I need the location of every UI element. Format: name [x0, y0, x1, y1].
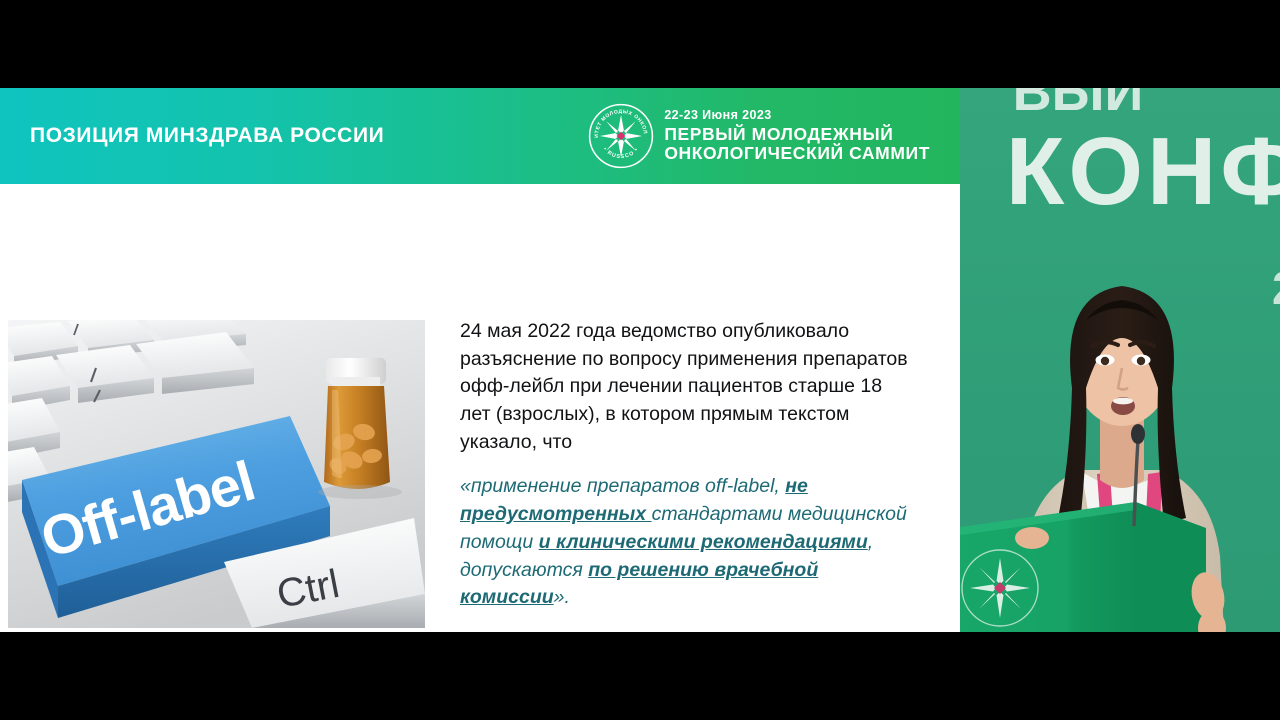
- slide-header-band: ПОЗИЦИЯ МИНЗДРАВА РОССИИ КОМИТЕТ МОЛОДЫХ…: [0, 88, 960, 184]
- svg-text:ВЫЙ: ВЫЙ: [1013, 88, 1144, 122]
- quote-emphasis-3: и клиническими рекомендациями: [539, 531, 868, 553]
- letterbox-bottom: [0, 632, 1280, 720]
- svg-text:2: 2: [1272, 262, 1280, 314]
- svg-text:КОНФ: КОНФ: [1006, 118, 1280, 225]
- quote-text-6: ».: [554, 586, 570, 608]
- slide-text-column: 24 мая 2022 года ведомство опубликовало …: [460, 318, 912, 612]
- summit-name-line-1: ПЕРВЫЙ МОЛОДЕЖНЫЙ: [664, 126, 930, 144]
- summit-dates: 22-23 Июня 2023: [664, 109, 930, 122]
- russco-emblem-icon: КОМИТЕТ МОЛОДЫХ ОНКОЛОГОВ • RUSSCO •: [588, 103, 654, 169]
- presentation-slide: ПОЗИЦИЯ МИНЗДРАВА РОССИИ КОМИТЕТ МОЛОДЫХ…: [0, 88, 960, 632]
- quote-paragraph: «применение препаратов off-label, не пре…: [460, 473, 912, 611]
- letterbox-top: [0, 0, 1280, 88]
- summit-name-line-2: ОНКОЛОГИЧЕСКИЙ САММИТ: [664, 145, 930, 163]
- svg-text:КОМИТЕТ МОЛОДЫХ ОНКОЛОГОВ: КОМИТЕТ МОЛОДЫХ ОНКОЛОГОВ: [588, 103, 648, 138]
- quote-text-0: «применение препаратов off-label,: [460, 475, 785, 497]
- summit-logo-lockup: КОМИТЕТ МОЛОДЫХ ОНКОЛОГОВ • RUSSCO •: [588, 103, 930, 169]
- off-label-keyboard-photo: Off-label: [8, 320, 425, 628]
- page-title: ПОЗИЦИЯ МИНЗДРАВА РОССИИ: [30, 124, 384, 148]
- summit-logo-text: 22-23 Июня 2023 ПЕРВЫЙ МОЛОДЕЖНЫЙ ОНКОЛО…: [664, 109, 930, 163]
- intro-paragraph: 24 мая 2022 года ведомство опубликовало …: [460, 318, 912, 456]
- slide-content-area: Off-label: [0, 184, 960, 632]
- speaker-video-panel[interactable]: КОНФ ВЫЙ 2: [960, 88, 1280, 632]
- video-player-stage: ПОЗИЦИЯ МИНЗДРАВА РОССИИ КОМИТЕТ МОЛОДЫХ…: [0, 0, 1280, 720]
